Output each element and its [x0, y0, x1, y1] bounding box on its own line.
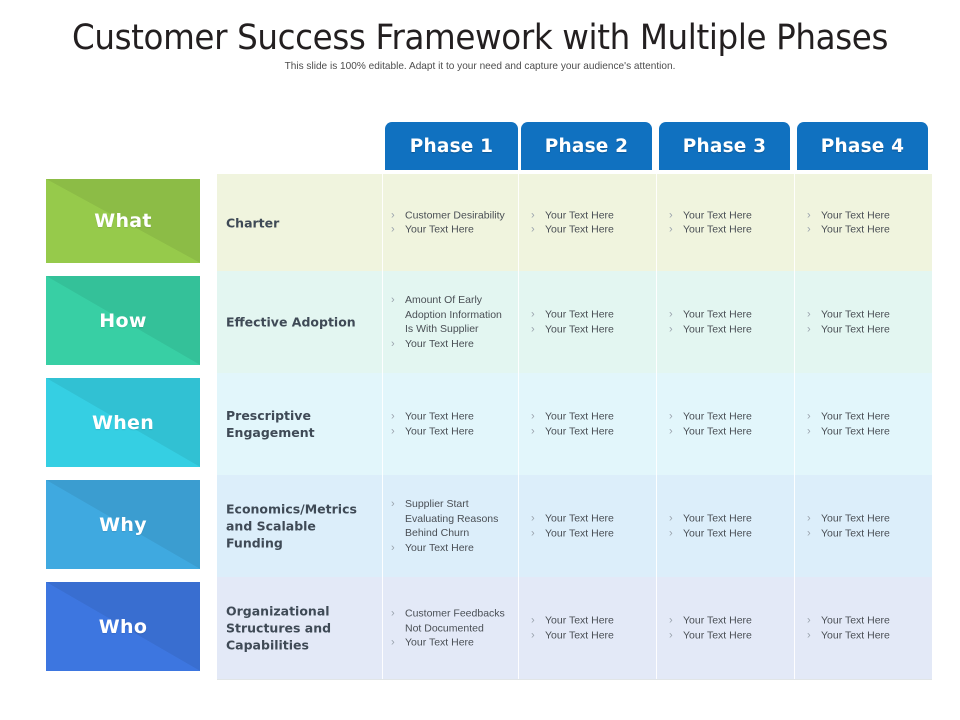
column-divider [656, 475, 657, 577]
chevron-right-icon: › [531, 208, 545, 223]
chevron-right-icon: › [531, 512, 545, 527]
chevron-right-icon: › [807, 410, 821, 425]
bullet-item: ›Your Text Here [391, 223, 508, 238]
chevron-right-icon: › [531, 628, 545, 643]
bullet-item: ›Your Text Here [807, 614, 922, 629]
row-title-what: Charter [226, 214, 376, 231]
dimension-label-text: When [92, 412, 154, 434]
bullet-item: ›Your Text Here [669, 628, 784, 643]
column-divider [382, 373, 383, 475]
column-divider [656, 373, 657, 475]
dimension-label-text: How [99, 310, 146, 332]
column-divider [656, 577, 657, 679]
bullet-text: Your Text Here [405, 635, 508, 650]
column-divider [518, 577, 519, 679]
bullet-text: Your Text Here [545, 614, 646, 629]
bullet-text: Your Text Here [405, 223, 508, 238]
bullet-text: Your Text Here [683, 208, 784, 223]
bullet-item: ›Your Text Here [531, 208, 646, 223]
bullet-text: Your Text Here [683, 308, 784, 323]
chevron-right-icon: › [807, 223, 821, 238]
bullet-list: ›Your Text Here›Your Text Here [669, 614, 784, 643]
bullet-list: ›Your Text Here›Your Text Here [807, 512, 922, 541]
bullet-item: ›Your Text Here [531, 410, 646, 425]
bullet-list: ›Amount Of Early Adoption Information Is… [391, 293, 508, 351]
chevron-right-icon: › [391, 208, 405, 223]
bullet-text: Your Text Here [405, 410, 508, 425]
chevron-right-icon: › [391, 337, 405, 352]
bullet-item: ›Your Text Here [531, 628, 646, 643]
bullet-item: ›Your Text Here [807, 526, 922, 541]
bullet-text: Your Text Here [545, 526, 646, 541]
cell-why-phase-4[interactable]: ›Your Text Here›Your Text Here [807, 475, 922, 577]
column-divider [794, 475, 795, 577]
cell-when-phase-3[interactable]: ›Your Text Here›Your Text Here [669, 373, 784, 475]
bullet-item: ›Your Text Here [807, 512, 922, 527]
bullet-item: ›Your Text Here [391, 410, 508, 425]
chevron-right-icon: › [531, 614, 545, 629]
bullet-item: ›Your Text Here [669, 410, 784, 425]
bullet-item: ›Your Text Here [531, 614, 646, 629]
bullet-text: Your Text Here [821, 526, 922, 541]
chevron-right-icon: › [669, 410, 683, 425]
bullet-item: ›Your Text Here [531, 308, 646, 323]
page-subtitle: This slide is 100% editable. Adapt it to… [19, 60, 941, 72]
bullet-list: ›Your Text Here›Your Text Here [669, 512, 784, 541]
chevron-right-icon: › [391, 635, 405, 650]
chevron-right-icon: › [531, 424, 545, 439]
cell-when-phase-1[interactable]: ›Your Text Here›Your Text Here [391, 373, 508, 475]
bullet-text: Your Text Here [683, 614, 784, 629]
phase-header-tab-3[interactable]: Phase 3 [659, 122, 790, 170]
bullet-list: ›Your Text Here›Your Text Here [669, 410, 784, 439]
chevron-right-icon: › [669, 614, 683, 629]
bullet-item: ›Your Text Here [807, 628, 922, 643]
bullet-text: Your Text Here [821, 512, 922, 527]
bullet-list: ›Your Text Here›Your Text Here [531, 308, 646, 337]
bullet-item: ›Your Text Here [531, 526, 646, 541]
bullet-item: ›Your Text Here [531, 223, 646, 238]
row-title-how: Effective Adoption [226, 314, 376, 331]
bullet-text: Customer Desirability [405, 208, 508, 223]
bullet-item: ›Your Text Here [531, 424, 646, 439]
bullet-list: ›Your Text Here›Your Text Here [531, 512, 646, 541]
bullet-item: ›Customer Desirability [391, 208, 508, 223]
cell-who-phase-3[interactable]: ›Your Text Here›Your Text Here [669, 577, 784, 679]
bullet-item: ›Your Text Here [807, 424, 922, 439]
cell-when-phase-4[interactable]: ›Your Text Here›Your Text Here [807, 373, 922, 475]
bullet-item: ›Your Text Here [807, 410, 922, 425]
column-divider [656, 271, 657, 373]
bullet-item: ›Your Text Here [391, 635, 508, 650]
chevron-right-icon: › [669, 322, 683, 337]
column-divider [382, 475, 383, 577]
phase-header-label: Phase 2 [545, 136, 629, 157]
cell-how-phase-1[interactable]: ›Amount Of Early Adoption Information Is… [391, 271, 508, 373]
chevron-right-icon: › [669, 512, 683, 527]
bullet-text: Your Text Here [821, 308, 922, 323]
bullet-item: ›Your Text Here [669, 614, 784, 629]
chevron-right-icon: › [391, 410, 405, 425]
bullet-item: ›Your Text Here [391, 541, 508, 556]
chevron-right-icon: › [391, 293, 405, 308]
chevron-right-icon: › [807, 308, 821, 323]
cell-why-phase-1[interactable]: ›Supplier Start Evaluating Reasons Behin… [391, 475, 508, 577]
bullet-text: Your Text Here [545, 208, 646, 223]
bullet-text: Your Text Here [683, 628, 784, 643]
bullet-list: ›Your Text Here›Your Text Here [807, 614, 922, 643]
cell-what-phase-2[interactable]: ›Your Text Here›Your Text Here [531, 174, 646, 271]
column-divider [794, 373, 795, 475]
bullet-item: ›Your Text Here [807, 322, 922, 337]
bullet-item: ›Your Text Here [669, 322, 784, 337]
column-divider [656, 174, 657, 271]
phase-header-tab-4[interactable]: Phase 4 [797, 122, 928, 170]
row-divider [217, 679, 932, 680]
chevron-right-icon: › [531, 223, 545, 238]
bullet-text: Your Text Here [683, 512, 784, 527]
bullet-item: ›Your Text Here [669, 308, 784, 323]
column-divider [794, 577, 795, 679]
dimension-label-text: Why [99, 514, 147, 536]
bullet-item: ›Your Text Here [669, 223, 784, 238]
chevron-right-icon: › [807, 512, 821, 527]
dimension-label-text: Who [99, 616, 147, 638]
bullet-list: ›Customer Desirability›Your Text Here [391, 208, 508, 237]
bullet-list: ›Your Text Here›Your Text Here [391, 410, 508, 439]
column-divider [794, 174, 795, 271]
bullet-list: ›Your Text Here›Your Text Here [669, 308, 784, 337]
dimension-label-how[interactable]: How [46, 276, 200, 365]
bullet-text: Your Text Here [683, 410, 784, 425]
chevron-right-icon: › [391, 223, 405, 238]
cell-what-phase-1[interactable]: ›Customer Desirability›Your Text Here [391, 174, 508, 271]
cell-why-phase-2[interactable]: ›Your Text Here›Your Text Here [531, 475, 646, 577]
bullet-item: ›Your Text Here [391, 337, 508, 352]
phase-header-label: Phase 1 [410, 136, 494, 157]
phase-header-tab-2[interactable]: Phase 2 [521, 122, 652, 170]
column-divider [794, 271, 795, 373]
chevron-right-icon: › [391, 497, 405, 512]
bullet-text: Your Text Here [821, 628, 922, 643]
bullet-text: Your Text Here [683, 322, 784, 337]
bullet-list: ›Your Text Here›Your Text Here [807, 410, 922, 439]
cell-when-phase-2[interactable]: ›Your Text Here›Your Text Here [531, 373, 646, 475]
chevron-right-icon: › [531, 526, 545, 541]
bullet-item: ›Your Text Here [669, 526, 784, 541]
cell-what-phase-4[interactable]: ›Your Text Here›Your Text Here [807, 174, 922, 271]
bullet-item: ›Your Text Here [807, 223, 922, 238]
bullet-text: Your Text Here [545, 410, 646, 425]
cell-what-phase-3[interactable]: ›Your Text Here›Your Text Here [669, 174, 784, 271]
bullet-text: Your Text Here [545, 223, 646, 238]
bullet-text: Amount Of Early Adoption Information Is … [405, 293, 508, 337]
chevron-right-icon: › [807, 628, 821, 643]
bullet-item: ›Your Text Here [669, 208, 784, 223]
cell-why-phase-3[interactable]: ›Your Text Here›Your Text Here [669, 475, 784, 577]
bullet-text: Your Text Here [405, 424, 508, 439]
chevron-right-icon: › [531, 322, 545, 337]
bullet-text: Your Text Here [821, 208, 922, 223]
chevron-right-icon: › [669, 308, 683, 323]
dimension-label-when[interactable]: When [46, 378, 200, 467]
bullet-item: ›Your Text Here [807, 308, 922, 323]
chevron-right-icon: › [807, 614, 821, 629]
bullet-text: Customer Feedbacks Not Documented [405, 606, 508, 635]
cell-who-phase-2[interactable]: ›Your Text Here›Your Text Here [531, 577, 646, 679]
bullet-item: ›Supplier Start Evaluating Reasons Behin… [391, 497, 508, 541]
phase-header-tab-1[interactable]: Phase 1 [385, 122, 518, 170]
chevron-right-icon: › [669, 208, 683, 223]
column-divider [518, 271, 519, 373]
dimension-label-what[interactable]: What [46, 179, 200, 263]
cell-who-phase-1[interactable]: ›Customer Feedbacks Not Documented›Your … [391, 577, 508, 679]
bullet-text: Your Text Here [821, 223, 922, 238]
chevron-right-icon: › [531, 410, 545, 425]
bullet-list: ›Supplier Start Evaluating Reasons Behin… [391, 497, 508, 555]
bullet-list: ›Your Text Here›Your Text Here [531, 410, 646, 439]
dimension-label-text: What [94, 210, 152, 232]
bullet-item: ›Your Text Here [531, 512, 646, 527]
chevron-right-icon: › [669, 526, 683, 541]
bullet-text: Your Text Here [545, 322, 646, 337]
bullet-list: ›Your Text Here›Your Text Here [531, 208, 646, 237]
chevron-right-icon: › [807, 322, 821, 337]
chevron-right-icon: › [391, 606, 405, 621]
bullet-item: ›Your Text Here [669, 424, 784, 439]
row-title-who: Organizational Structures and Capabiliti… [226, 603, 376, 654]
bullet-text: Your Text Here [821, 614, 922, 629]
bullet-item: ›Your Text Here [531, 322, 646, 337]
dimension-label-who[interactable]: Who [46, 582, 200, 671]
chevron-right-icon: › [391, 541, 405, 556]
column-divider [382, 577, 383, 679]
chevron-right-icon: › [531, 308, 545, 323]
column-divider [518, 174, 519, 271]
bullet-list: ›Customer Feedbacks Not Documented›Your … [391, 606, 508, 650]
chevron-right-icon: › [669, 628, 683, 643]
chevron-right-icon: › [807, 208, 821, 223]
bullet-text: Supplier Start Evaluating Reasons Behind… [405, 497, 508, 541]
bullet-item: ›Amount Of Early Adoption Information Is… [391, 293, 508, 337]
column-divider [382, 271, 383, 373]
bullet-text: Your Text Here [683, 424, 784, 439]
cell-how-phase-4[interactable]: ›Your Text Here›Your Text Here [807, 271, 922, 373]
bullet-text: Your Text Here [405, 541, 508, 556]
chevron-right-icon: › [807, 526, 821, 541]
cell-how-phase-3[interactable]: ›Your Text Here›Your Text Here [669, 271, 784, 373]
bullet-item: ›Your Text Here [807, 208, 922, 223]
row-title-when: Prescriptive Engagement [226, 407, 376, 441]
row-title-why: Economics/Metrics and Scalable Funding [226, 501, 376, 552]
dimension-label-why[interactable]: Why [46, 480, 200, 569]
page-title: Customer Success Framework with Multiple… [34, 18, 927, 58]
bullet-list: ›Your Text Here›Your Text Here [531, 614, 646, 643]
cell-who-phase-4[interactable]: ›Your Text Here›Your Text Here [807, 577, 922, 679]
bullet-list: ›Your Text Here›Your Text Here [807, 308, 922, 337]
bullet-text: Your Text Here [821, 410, 922, 425]
bullet-text: Your Text Here [821, 424, 922, 439]
bullet-text: Your Text Here [821, 322, 922, 337]
column-divider [518, 475, 519, 577]
bullet-list: ›Your Text Here›Your Text Here [669, 208, 784, 237]
chevron-right-icon: › [807, 424, 821, 439]
bullet-text: Your Text Here [545, 628, 646, 643]
bullet-item: ›Your Text Here [391, 424, 508, 439]
chevron-right-icon: › [669, 223, 683, 238]
bullet-list: ›Your Text Here›Your Text Here [807, 208, 922, 237]
chevron-right-icon: › [391, 424, 405, 439]
phase-header-label: Phase 4 [821, 136, 905, 157]
bullet-item: ›Customer Feedbacks Not Documented [391, 606, 508, 635]
bullet-text: Your Text Here [545, 308, 646, 323]
bullet-text: Your Text Here [683, 526, 784, 541]
bullet-text: Your Text Here [545, 424, 646, 439]
bullet-text: Your Text Here [683, 223, 784, 238]
cell-how-phase-2[interactable]: ›Your Text Here›Your Text Here [531, 271, 646, 373]
bullet-item: ›Your Text Here [669, 512, 784, 527]
bullet-text: Your Text Here [545, 512, 646, 527]
chevron-right-icon: › [669, 424, 683, 439]
column-divider [518, 373, 519, 475]
phase-header-label: Phase 3 [683, 136, 767, 157]
column-divider [382, 174, 383, 271]
bullet-text: Your Text Here [405, 337, 508, 352]
